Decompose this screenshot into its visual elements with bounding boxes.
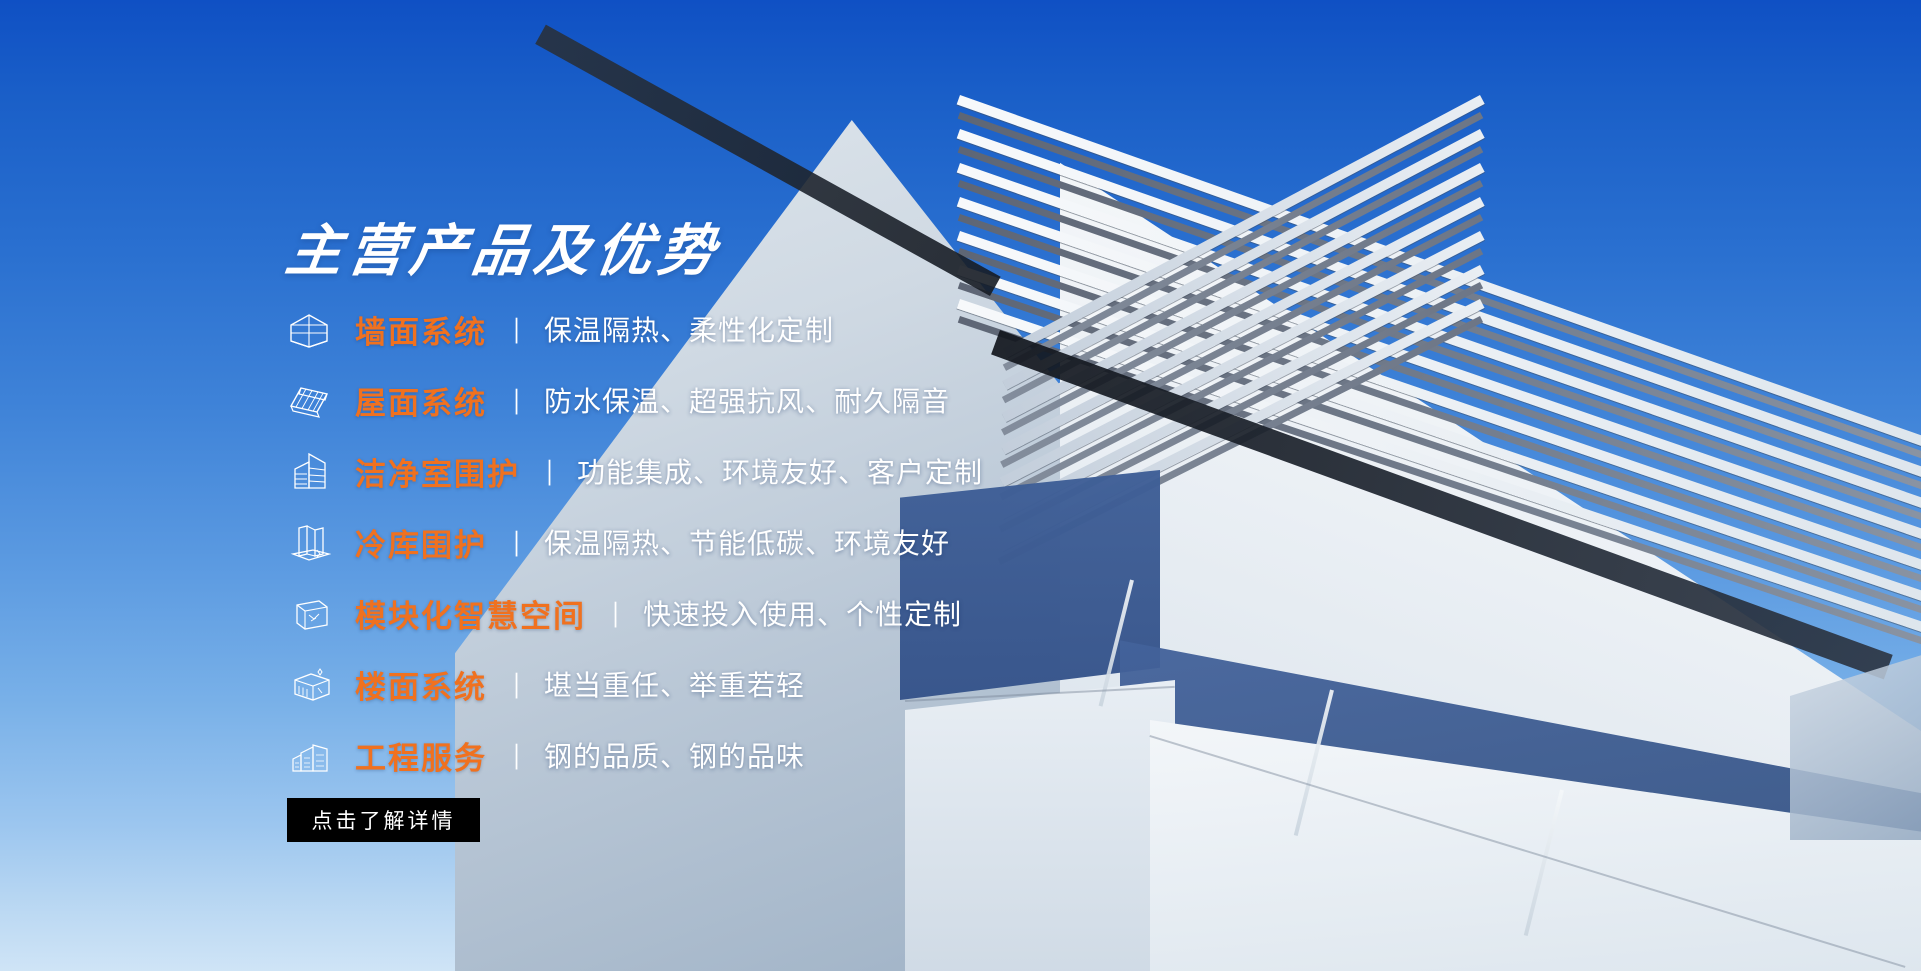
cornice-band: [958, 316, 1921, 658]
product-row[interactable]: 冷库围护丨保温隔热、节能低碳、环境友好: [287, 513, 983, 571]
blue-spandrel-right: [1120, 620, 1921, 960]
product-row[interactable]: 模块化智慧空间丨快速投入使用、个性定制: [287, 584, 983, 642]
cornice-band: [957, 163, 1921, 521]
cornice-band: [957, 265, 1921, 614]
page-title: 主营产品及优势: [281, 206, 726, 287]
mullion-1: [1099, 580, 1134, 707]
product-features: 钢的品质、钢的品味: [544, 735, 805, 775]
product-row[interactable]: 楼面系统丨堪当重任、举重若轻: [287, 655, 983, 713]
hero-banner: 主营产品及优势 墙面系统丨保温隔热、柔性化定制屋面系统丨防水保温、超强抗风、耐久…: [0, 0, 1921, 971]
separator-bar: 丨: [509, 381, 524, 420]
product-features: 功能集成、环境友好、客户定制: [577, 451, 983, 491]
product-name: 楼面系统: [355, 662, 487, 707]
product-row[interactable]: 工程服务丨钢的品质、钢的品味: [287, 726, 983, 784]
separator-bar: 丨: [542, 452, 557, 491]
cornice-band: [957, 95, 1921, 458]
cornice-band: [957, 197, 1921, 552]
white-panel-right: [1150, 720, 1921, 971]
product-name: 模块化智慧空间: [355, 591, 586, 636]
floor-module-icon: [287, 662, 331, 706]
product-features: 快速投入使用、个性定制: [643, 593, 962, 633]
cornice-band: [957, 231, 1921, 583]
shadow-reveal-right: [991, 330, 1893, 679]
cold-storage-icon: [287, 520, 331, 564]
engineering-plant-icon: [287, 733, 331, 777]
hero-overlay: 主营产品及优势 墙面系统丨保温隔热、柔性化定制屋面系统丨防水保温、超强抗风、耐久…: [0, 0, 1100, 971]
cornice-band: [957, 129, 1921, 489]
separator-bar: 丨: [509, 310, 524, 349]
building-right-facade: [1060, 110, 1921, 971]
panel-seam-1: [1149, 735, 1905, 968]
cornice-band: [958, 180, 1921, 533]
cornice-band: [958, 112, 1921, 471]
product-name: 洁净室围护: [355, 449, 520, 494]
product-row[interactable]: 洁净室围护丨功能集成、环境友好、客户定制: [287, 442, 983, 500]
cornice-band: [958, 248, 1921, 596]
roof-panel-icon: [287, 378, 331, 422]
building-right-wing: [1790, 640, 1921, 840]
separator-bar: 丨: [608, 594, 623, 633]
product-name: 工程服务: [355, 733, 487, 778]
product-name: 冷库围护: [355, 520, 487, 565]
separator-bar: 丨: [509, 523, 524, 562]
cornice-band: [957, 299, 1921, 646]
cornice-band: [958, 214, 1921, 565]
product-features: 保温隔热、节能低碳、环境友好: [544, 522, 950, 562]
product-list: 墙面系统丨保温隔热、柔性化定制屋面系统丨防水保温、超强抗风、耐久隔音洁净室围护丨…: [287, 300, 983, 797]
cornice-band: [958, 146, 1921, 502]
product-name: 屋面系统: [355, 378, 487, 423]
product-features: 保温隔热、柔性化定制: [544, 309, 834, 349]
wall-panel-icon: [287, 307, 331, 351]
mullion-2: [1294, 690, 1334, 837]
product-row[interactable]: 墙面系统丨保温隔热、柔性化定制: [287, 300, 983, 358]
learn-more-button[interactable]: 点击了解详情: [287, 798, 480, 842]
product-row[interactable]: 屋面系统丨防水保温、超强抗风、耐久隔音: [287, 371, 983, 429]
cornice-bands-right: [960, 95, 1921, 655]
mullion-3: [1524, 790, 1564, 937]
separator-bar: 丨: [509, 736, 524, 775]
product-name: 墙面系统: [355, 307, 487, 352]
product-features: 防水保温、超强抗风、耐久隔音: [544, 380, 950, 420]
cornice-band: [958, 282, 1921, 627]
product-features: 堪当重任、举重若轻: [544, 664, 805, 704]
cleanroom-building-icon: [287, 449, 331, 493]
separator-bar: 丨: [509, 665, 524, 704]
modular-cube-icon: [287, 591, 331, 635]
